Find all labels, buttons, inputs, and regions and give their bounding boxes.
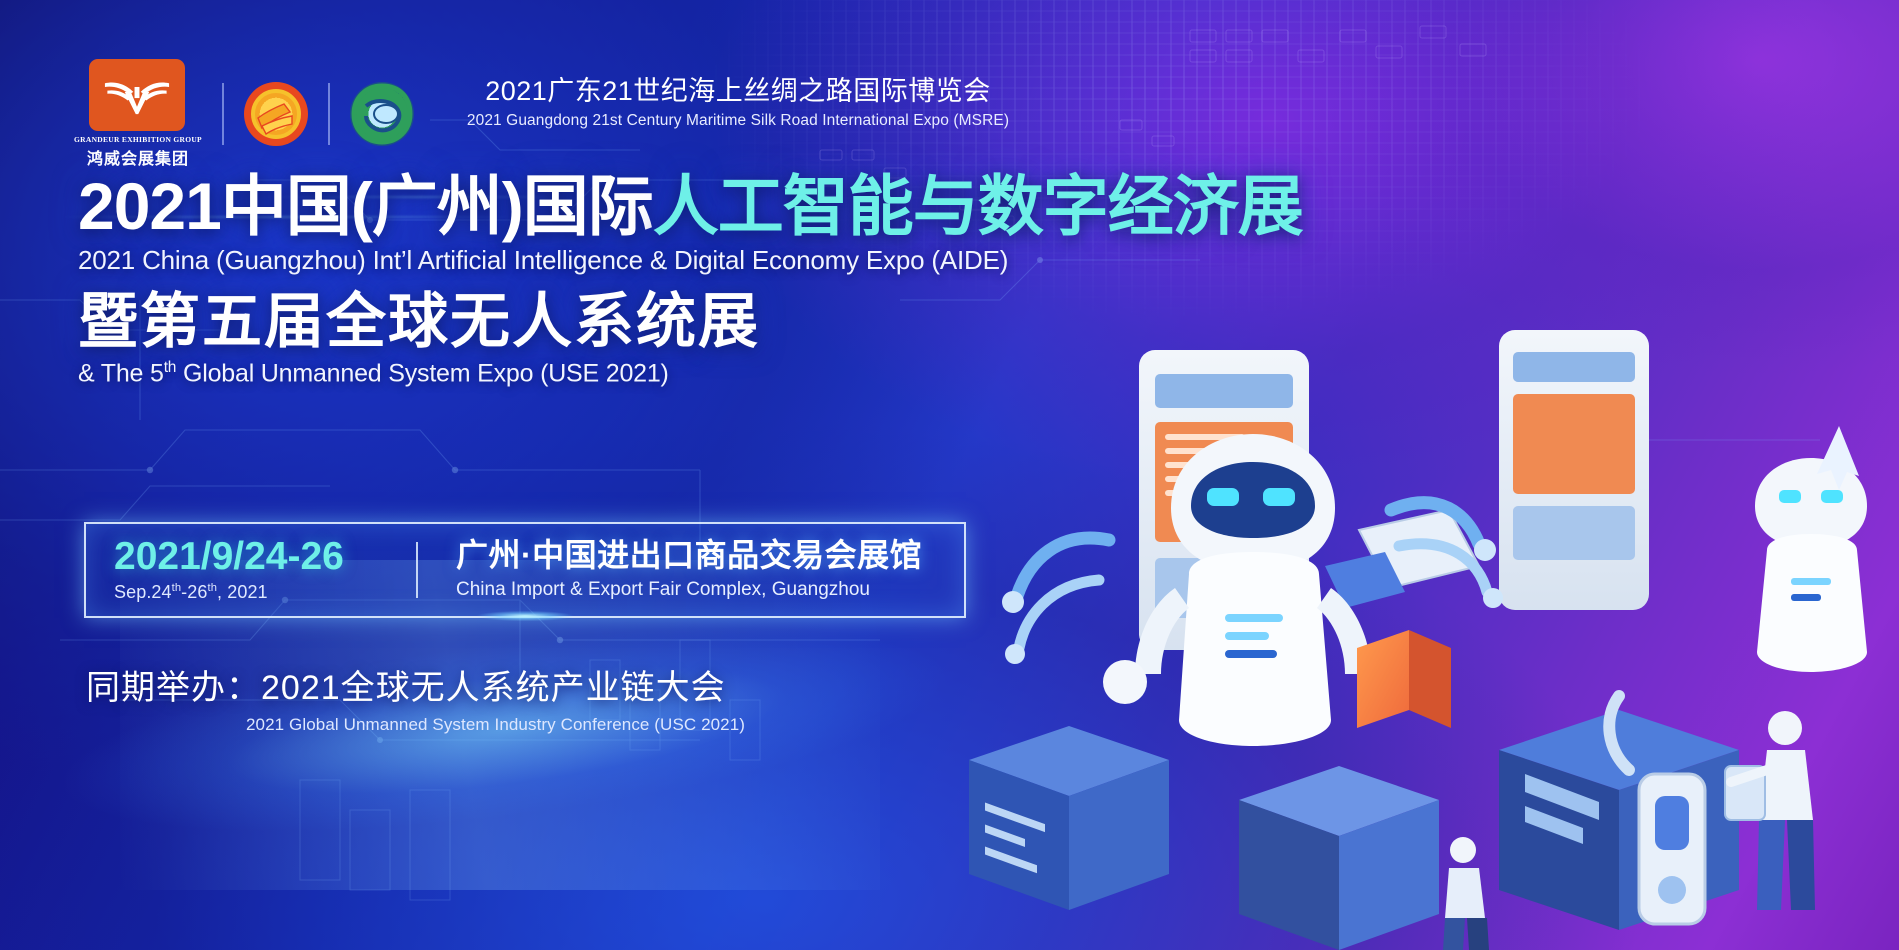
logo-divider-2 [328,83,330,145]
illustration-cursor-icon [1817,426,1859,490]
date-column: 2021/9/24-26 Sep.24th-26th, 2021 [86,537,416,603]
illustration-robot-arm [1609,696,1705,924]
main-title-line2: 暨第五届全球无人系统展 [78,290,1303,355]
concurrent-conference-block: 同期举办：2021全球无人系统产业链大会 2021 Global Unmanne… [86,660,745,735]
illustration-robot-small [1755,458,1867,672]
illustration-robot [1103,434,1403,746]
expo-header-title: 2021广东21世纪海上丝绸之路国际博览会 2021 Guangdong 21s… [418,74,1058,130]
wings-w-icon [100,72,174,118]
main-title-line1: 2021中国(广州)国际人工智能与数字经济展 [78,172,1303,241]
expo-title-en: 2021 Guangdong 21st Century Maritime Sil… [418,112,1058,130]
conference-title-cn: 同期举办：2021全球无人系统产业链大会 [86,660,745,709]
date-en-post: , 2021 [217,582,268,602]
grandeur-logo-cn: 鸿威会展集团 [87,145,189,169]
ai-robot-illustration [939,330,1899,950]
grandeur-logo-icon [89,59,185,131]
date-en-pre: Sep.24 [114,582,172,602]
illustration-person-2 [1443,837,1489,950]
illustration-screen-right [1499,330,1649,610]
date-en-mid: -26 [181,582,207,602]
conference-title-en: 2021 Global Unmanned System Industry Con… [246,715,745,735]
illustration-person [1725,711,1815,910]
date-venue-box: 2021/9/24-26 Sep.24th-26th, 2021 广州·中国进出… [84,522,966,618]
event-date-primary: 2021/9/24-26 [114,537,416,576]
venue-column: 广州·中国进出口商品交易会展馆 China Import & Export Fa… [424,539,922,601]
illustration-servers [969,710,1739,950]
expo-banner: GRANDEUR EXHIBITION GROUP 鸿威会展集团 2021广东2… [0,0,1899,950]
main-title-line2-en: & The 5th Global Unmanned System Expo (U… [78,359,1303,388]
main-title-line1-white: 2021中国(广州)国际 [78,169,653,243]
illustration-cables [1002,503,1503,664]
main-title-block: 2021中国(广州)国际人工智能与数字经济展 2021 China (Guang… [78,172,1303,388]
logo-bar: GRANDEUR EXHIBITION GROUP 鸿威会展集团 [72,62,414,166]
use-en-pre: & The 5 [78,359,164,387]
msre-emblem-icon [244,82,308,146]
main-title-line1-cyan: 人工智能与数字经济展 [653,169,1303,243]
date-venue-divider [416,542,418,598]
grandeur-logo-en: GRANDEUR EXHIBITION GROUP [74,135,202,144]
use-en-post: Global Unmanned System Expo (USE 2021) [176,359,668,387]
expo-title-cn: 2021广东21世纪海上丝绸之路国际博览会 [418,74,1058,109]
date-en-sup2: th [208,582,218,594]
green-emblem-icon [350,82,414,146]
venue-name-cn: 广州·中国进出口商品交易会展馆 [456,539,922,571]
main-title-line1-en: 2021 China (Guangzhou) Int’l Artificial … [78,245,1303,276]
logo-divider-1 [222,83,224,145]
venue-name-en: China Import & Export Fair Complex, Guan… [456,579,922,601]
illustration-card [1325,510,1479,608]
illustration-orange-accent [1357,630,1451,728]
use-en-sup: th [164,359,177,376]
date-en-sup1: th [172,582,182,594]
event-date-english: Sep.24th-26th, 2021 [114,582,416,603]
illustration-screen-left [1139,350,1309,650]
